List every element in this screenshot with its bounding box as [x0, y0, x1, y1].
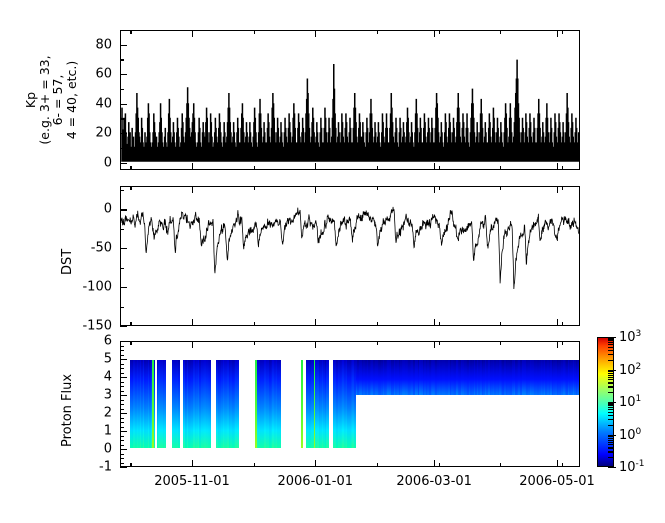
colorbar-minor-tick	[608, 342, 613, 343]
tick-mark	[439, 322, 440, 326]
colorbar-tick-exponent: 0	[636, 426, 642, 436]
colorbar-minor-tick	[608, 338, 613, 339]
tick-mark	[120, 346, 124, 347]
colorbar-minor-tick	[608, 371, 613, 372]
dst-series	[121, 187, 579, 325]
tick-mark	[562, 341, 563, 345]
flux-ytick-label: 4	[104, 370, 112, 385]
tick-mark	[315, 163, 316, 170]
tick-mark	[557, 319, 558, 326]
heatmap-column	[164, 360, 166, 449]
heatmap-hot-column	[152, 360, 154, 449]
kp-ytick-label: 60	[95, 67, 112, 82]
proton-flux-panel	[120, 341, 580, 467]
tick-mark	[120, 404, 124, 405]
tick-mark	[557, 186, 558, 193]
tick-mark	[439, 186, 440, 190]
tick-mark	[120, 395, 127, 396]
colorbar-minor-tick	[608, 451, 613, 452]
kp-ylabel: Kp (e.g. 3+ = 33, 6- = 57, 4 = 40, etc.)	[24, 30, 78, 170]
colorbar-minor-tick	[608, 447, 613, 448]
tick-mark	[120, 359, 127, 360]
tick-mark	[120, 458, 124, 459]
heatmap-column	[209, 360, 211, 449]
tick-mark	[315, 186, 316, 193]
tick-mark	[120, 463, 124, 464]
colorbar-tick-mark	[608, 467, 616, 468]
dst-line	[121, 207, 579, 289]
dst-ylabel: DST	[60, 249, 75, 275]
colorbar-minor-tick	[608, 373, 613, 374]
colorbar-minor-tick	[608, 419, 613, 420]
colorbar-minor-tick	[608, 442, 613, 443]
colorbar-minor-tick	[608, 407, 613, 408]
tick-mark	[120, 400, 124, 401]
kp-ytick-label: 40	[95, 96, 112, 111]
colorbar-minor-tick	[608, 405, 613, 406]
tick-mark	[120, 326, 127, 327]
tick-mark	[192, 30, 193, 37]
colorbar-minor-tick	[608, 415, 613, 416]
tick-mark	[120, 436, 124, 437]
tick-mark	[120, 449, 127, 450]
tick-mark	[120, 409, 124, 410]
colorbar-tick-mantissa: 10	[619, 363, 636, 378]
tick-mark	[254, 322, 255, 326]
tick-mark	[120, 209, 127, 210]
tick-mark	[120, 454, 124, 455]
x-axis-tick-label: 2006-03-01	[396, 474, 472, 489]
tick-mark	[120, 268, 124, 269]
tick-mark	[192, 163, 193, 170]
colorbar-minor-tick	[608, 386, 613, 387]
tick-mark	[377, 186, 378, 190]
tick-mark	[192, 460, 193, 467]
tick-mark	[500, 30, 501, 34]
heatmap-hot-column	[301, 360, 303, 449]
tick-mark	[439, 341, 440, 345]
tick-mark	[562, 463, 563, 467]
colorbar-tick-label: 103	[619, 329, 641, 345]
tick-mark	[120, 89, 124, 90]
tick-mark	[120, 368, 124, 369]
tick-mark	[377, 30, 378, 34]
flux-ytick-label: 2	[104, 406, 112, 421]
tick-mark	[377, 463, 378, 467]
colorbar-minor-tick	[608, 347, 613, 348]
dst-ytick-label: -150	[82, 319, 112, 334]
colorbar-minor-tick	[608, 340, 613, 341]
tick-mark	[254, 341, 255, 345]
colorbar-tick-label: 102	[619, 361, 641, 377]
tick-mark	[315, 319, 316, 326]
colorbar-minor-tick	[608, 436, 613, 437]
tick-mark	[434, 460, 435, 467]
dst-ytick-label: -100	[82, 280, 112, 295]
tick-mark	[130, 463, 131, 467]
tick-mark	[120, 45, 127, 46]
colorbar-tick-mantissa: 10	[619, 395, 636, 410]
colorbar-tick-mantissa: 10	[619, 330, 636, 345]
tick-mark	[557, 341, 558, 348]
tick-mark	[562, 166, 563, 170]
dst-ytick-label: -50	[91, 241, 112, 256]
flux-ytick-label: 5	[104, 352, 112, 367]
tick-mark	[130, 322, 131, 326]
tick-mark	[120, 391, 124, 392]
heatmap-column	[326, 360, 328, 449]
tick-mark	[315, 341, 316, 348]
tick-mark	[120, 163, 127, 164]
tick-mark	[120, 440, 124, 441]
tick-mark	[434, 186, 435, 193]
tick-mark	[120, 190, 124, 191]
colorbar-minor-tick	[608, 382, 613, 383]
colorbar-minor-tick	[608, 403, 613, 404]
tick-mark	[254, 463, 255, 467]
colorbar-minor-tick	[608, 412, 613, 413]
tick-mark	[120, 467, 127, 468]
tick-mark	[120, 104, 127, 105]
tick-mark	[500, 341, 501, 345]
tick-mark	[120, 431, 127, 432]
tick-mark	[120, 118, 124, 119]
colorbar-tick-exponent: 2	[636, 361, 642, 371]
tick-mark	[315, 30, 316, 37]
tick-mark	[120, 350, 124, 351]
tick-mark	[500, 322, 501, 326]
tick-mark	[254, 30, 255, 34]
heatmap-hot-column	[314, 360, 316, 449]
tick-mark	[439, 463, 440, 467]
kp-ylabel-line-0: Kp	[24, 30, 38, 170]
colorbar-minor-tick	[608, 344, 613, 345]
tick-mark	[120, 355, 124, 356]
flux-ytick-label: 0	[104, 442, 112, 457]
colorbar-minor-tick	[608, 425, 613, 426]
tick-mark	[192, 319, 193, 326]
colorbar-tick-label: 10-1	[619, 459, 645, 475]
tick-mark	[130, 186, 131, 190]
flux-ytick-label: 6	[104, 334, 112, 349]
tick-mark	[120, 373, 124, 374]
dst-trace	[121, 187, 579, 325]
tick-mark	[120, 377, 127, 378]
colorbar-minor-tick	[608, 438, 613, 439]
tick-mark	[500, 186, 501, 190]
tick-mark	[120, 445, 124, 446]
tick-mark	[120, 386, 124, 387]
colorbar-minor-tick	[608, 377, 613, 378]
heatmap-column	[178, 360, 180, 449]
tick-mark	[120, 74, 127, 75]
kp-panel	[120, 30, 580, 170]
x-axis-tick-label: 2005-11-01	[154, 474, 230, 489]
tick-mark	[120, 248, 127, 249]
heatmap-column	[577, 360, 579, 395]
colorbar-minor-tick	[608, 360, 613, 361]
tick-mark	[557, 460, 558, 467]
tick-mark	[120, 133, 127, 134]
tick-mark	[130, 341, 131, 345]
colorbar-tick-exponent: 1	[636, 394, 642, 404]
kp-ylabel-line-1: (e.g. 3+ = 33,	[38, 30, 52, 170]
colorbar-minor-tick	[608, 392, 613, 393]
colorbar-minor-tick	[608, 409, 613, 410]
space-weather-figure: Kp (e.g. 3+ = 33, 6- = 57, 4 = 40, etc.)…	[0, 0, 665, 523]
tick-mark	[120, 287, 127, 288]
tick-mark	[192, 186, 193, 193]
flux-ytick-label: 1	[104, 424, 112, 439]
kp-trace	[121, 31, 579, 169]
tick-mark	[434, 30, 435, 37]
dst-panel	[120, 186, 580, 326]
tick-mark	[557, 163, 558, 170]
tick-mark	[562, 322, 563, 326]
colorbar-minor-tick	[608, 354, 613, 355]
kp-ytick-label: 0	[104, 155, 112, 170]
tick-mark	[439, 166, 440, 170]
tick-mark	[500, 463, 501, 467]
kp-ylabel-line-3: 4 = 40, etc.)	[65, 30, 79, 170]
colorbar-minor-tick	[608, 375, 613, 376]
tick-mark	[377, 341, 378, 345]
colorbar-tick-exponent: 3	[636, 329, 642, 339]
colorbar-tick-mantissa: 10	[619, 428, 636, 443]
tick-mark	[434, 341, 435, 348]
colorbar-minor-tick	[608, 444, 613, 445]
tick-mark	[120, 59, 124, 60]
tick-mark	[120, 341, 127, 342]
tick-mark	[254, 186, 255, 190]
colorbar-minor-tick	[608, 440, 613, 441]
tick-mark	[192, 341, 193, 348]
tick-mark	[120, 422, 124, 423]
colorbar-tick-mantissa: 10	[619, 460, 636, 475]
tick-mark	[120, 418, 124, 419]
tick-mark	[120, 229, 124, 230]
tick-mark	[377, 322, 378, 326]
colorbar-minor-tick	[608, 379, 613, 380]
tick-mark	[130, 30, 131, 34]
colorbar-minor-tick	[608, 350, 613, 351]
kp-ytick-label: 80	[95, 37, 112, 52]
tick-mark	[500, 166, 501, 170]
kp-series	[121, 31, 579, 169]
kp-line	[121, 60, 579, 162]
dst-ytick-label: 0	[104, 202, 112, 217]
heatmap-column	[279, 360, 281, 449]
tick-mark	[434, 163, 435, 170]
x-axis-tick-label: 2006-05-01	[519, 474, 595, 489]
tick-mark	[254, 166, 255, 170]
heatmap-column	[237, 360, 239, 449]
flux-ylabel: Proton Flux	[60, 374, 75, 447]
tick-mark	[120, 382, 124, 383]
colorbar-tick-exponent: -1	[636, 459, 645, 469]
flux-ytick-label: 3	[104, 388, 112, 403]
kp-ytick-label: 20	[95, 126, 112, 141]
tick-mark	[130, 166, 131, 170]
tick-mark	[562, 186, 563, 190]
x-axis-tick-label: 2006-01-01	[277, 474, 353, 489]
tick-mark	[562, 30, 563, 34]
tick-mark	[377, 166, 378, 170]
tick-mark	[120, 413, 127, 414]
kp-ylabel-line-2: 6- = 57,	[51, 30, 65, 170]
tick-mark	[434, 319, 435, 326]
tick-mark	[120, 364, 124, 365]
proton-flux-heatmap	[121, 342, 579, 466]
tick-mark	[120, 307, 124, 308]
colorbar-minor-tick	[608, 457, 613, 458]
tick-mark	[315, 460, 316, 467]
heatmap-hot-column	[255, 360, 257, 449]
tick-mark	[557, 30, 558, 37]
tick-mark	[120, 148, 124, 149]
flux-ytick-label: -1	[99, 460, 112, 475]
colorbar-tick-label: 100	[619, 426, 641, 442]
colorbar-tick-label: 101	[619, 394, 641, 410]
tick-mark	[439, 30, 440, 34]
tick-mark	[120, 427, 124, 428]
